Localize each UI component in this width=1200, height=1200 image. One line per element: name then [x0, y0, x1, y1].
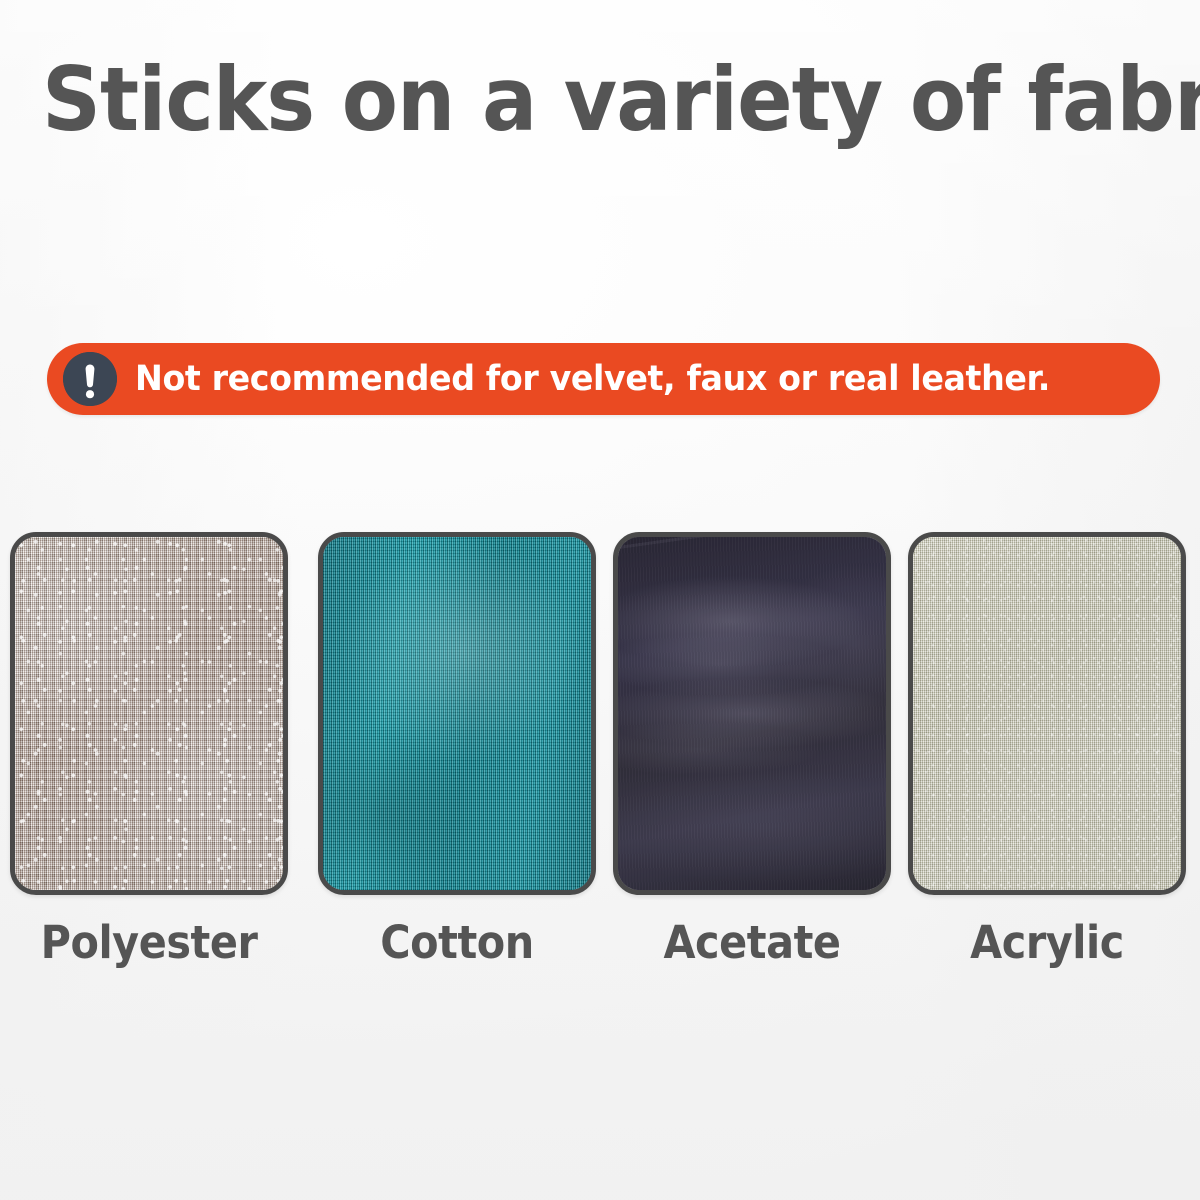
exclamation-circle-icon [63, 352, 117, 406]
polyester-texture [15, 537, 283, 890]
page-title: Sticks on a variety of fabrics [42, 56, 1158, 144]
fabric-swatch-acrylic [908, 532, 1186, 895]
acetate-texture [618, 537, 886, 890]
warning-text: Not recommended for velvet, faux or real… [135, 362, 1050, 397]
fabric-label-acrylic: Acrylic [919, 920, 1175, 965]
acrylic-texture [913, 537, 1181, 890]
fabric-swatch-acetate [613, 532, 891, 895]
fabric-label-acetate: Acetate [624, 920, 880, 965]
fabric-swatch-polyester [10, 532, 288, 895]
fabric-compatibility-infographic: Sticks on a variety of fabrics Not recom… [0, 0, 1200, 1200]
fabric-label-polyester: Polyester [21, 920, 277, 965]
fabric-swatch-row [0, 532, 1200, 897]
fabric-label-cotton: Cotton [329, 920, 585, 965]
fabric-label-row: Polyester Cotton Acetate Acrylic [0, 920, 1200, 990]
warning-banner: Not recommended for velvet, faux or real… [47, 343, 1160, 415]
fabric-swatch-cotton [318, 532, 596, 895]
cotton-texture [323, 537, 591, 890]
